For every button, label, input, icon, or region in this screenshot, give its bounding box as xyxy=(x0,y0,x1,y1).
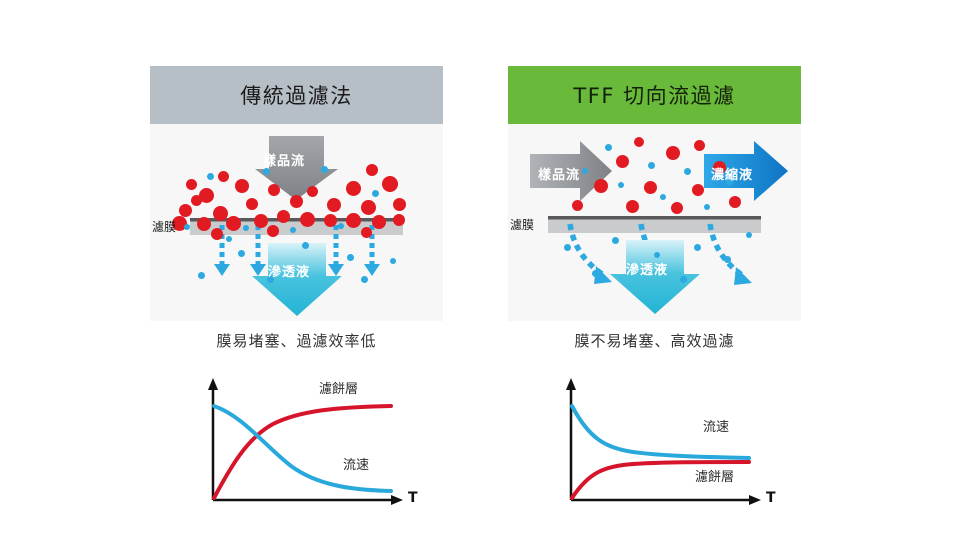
panel-title-tff: TFF 切向流過濾 xyxy=(573,80,735,110)
chart-label-cake-layer: 濾餅層 xyxy=(695,466,734,485)
chart-axes xyxy=(566,378,761,505)
chart-tff-svg xyxy=(553,372,793,507)
chart-conventional: 濾餅層 流速 T xyxy=(195,372,435,507)
chart-label-cake-layer: 濾餅層 xyxy=(319,378,358,397)
chart-axis-label-time: T xyxy=(766,490,776,506)
panel-tff-filtration: TFF 切向流過濾 xyxy=(508,66,801,321)
membrane-line xyxy=(548,216,761,220)
panel-header-tff: TFF 切向流過濾 xyxy=(508,66,801,124)
caption-tff: 膜不易堵塞、高效過濾 xyxy=(508,330,801,351)
panel-header-conventional: 傳統過濾法 xyxy=(150,66,443,124)
chart-axes xyxy=(208,378,403,505)
curve-flux xyxy=(214,406,391,491)
sample-flow-label: 樣品流 xyxy=(263,150,305,169)
chart-tff: 流速 濾餅層 T xyxy=(553,372,793,507)
outlet-concentrate-label: 濃縮液 xyxy=(711,164,753,183)
panel-body-tff: 樣品流 濃縮液 滲透液 濾膜 xyxy=(508,124,801,321)
panel-title-conventional: 傳統過濾法 xyxy=(240,80,353,110)
figure-canvas: 傳統過濾法 xyxy=(0,0,960,560)
membrane-label: 濾膜 xyxy=(152,218,176,235)
chart-label-flux: 流速 xyxy=(343,454,369,473)
membrane-label: 濾膜 xyxy=(510,216,534,233)
chart-label-flux: 流速 xyxy=(703,416,729,435)
chart-conventional-svg xyxy=(195,372,435,507)
inlet-sample-flow-label: 樣品流 xyxy=(538,164,580,183)
permeate-label: 滲透液 xyxy=(626,259,668,278)
panel-conventional-filtration: 傳統過濾法 xyxy=(150,66,443,321)
permeate-label: 滲透液 xyxy=(268,261,310,280)
chart-axis-label-time: T xyxy=(408,490,418,506)
membrane-band xyxy=(548,219,761,233)
panel-body-conventional: 樣品流 滲透液 濾膜 xyxy=(150,124,443,321)
caption-conventional: 膜易堵塞、過濾效率低 xyxy=(150,330,443,351)
tff-diagram-svg xyxy=(508,124,801,321)
